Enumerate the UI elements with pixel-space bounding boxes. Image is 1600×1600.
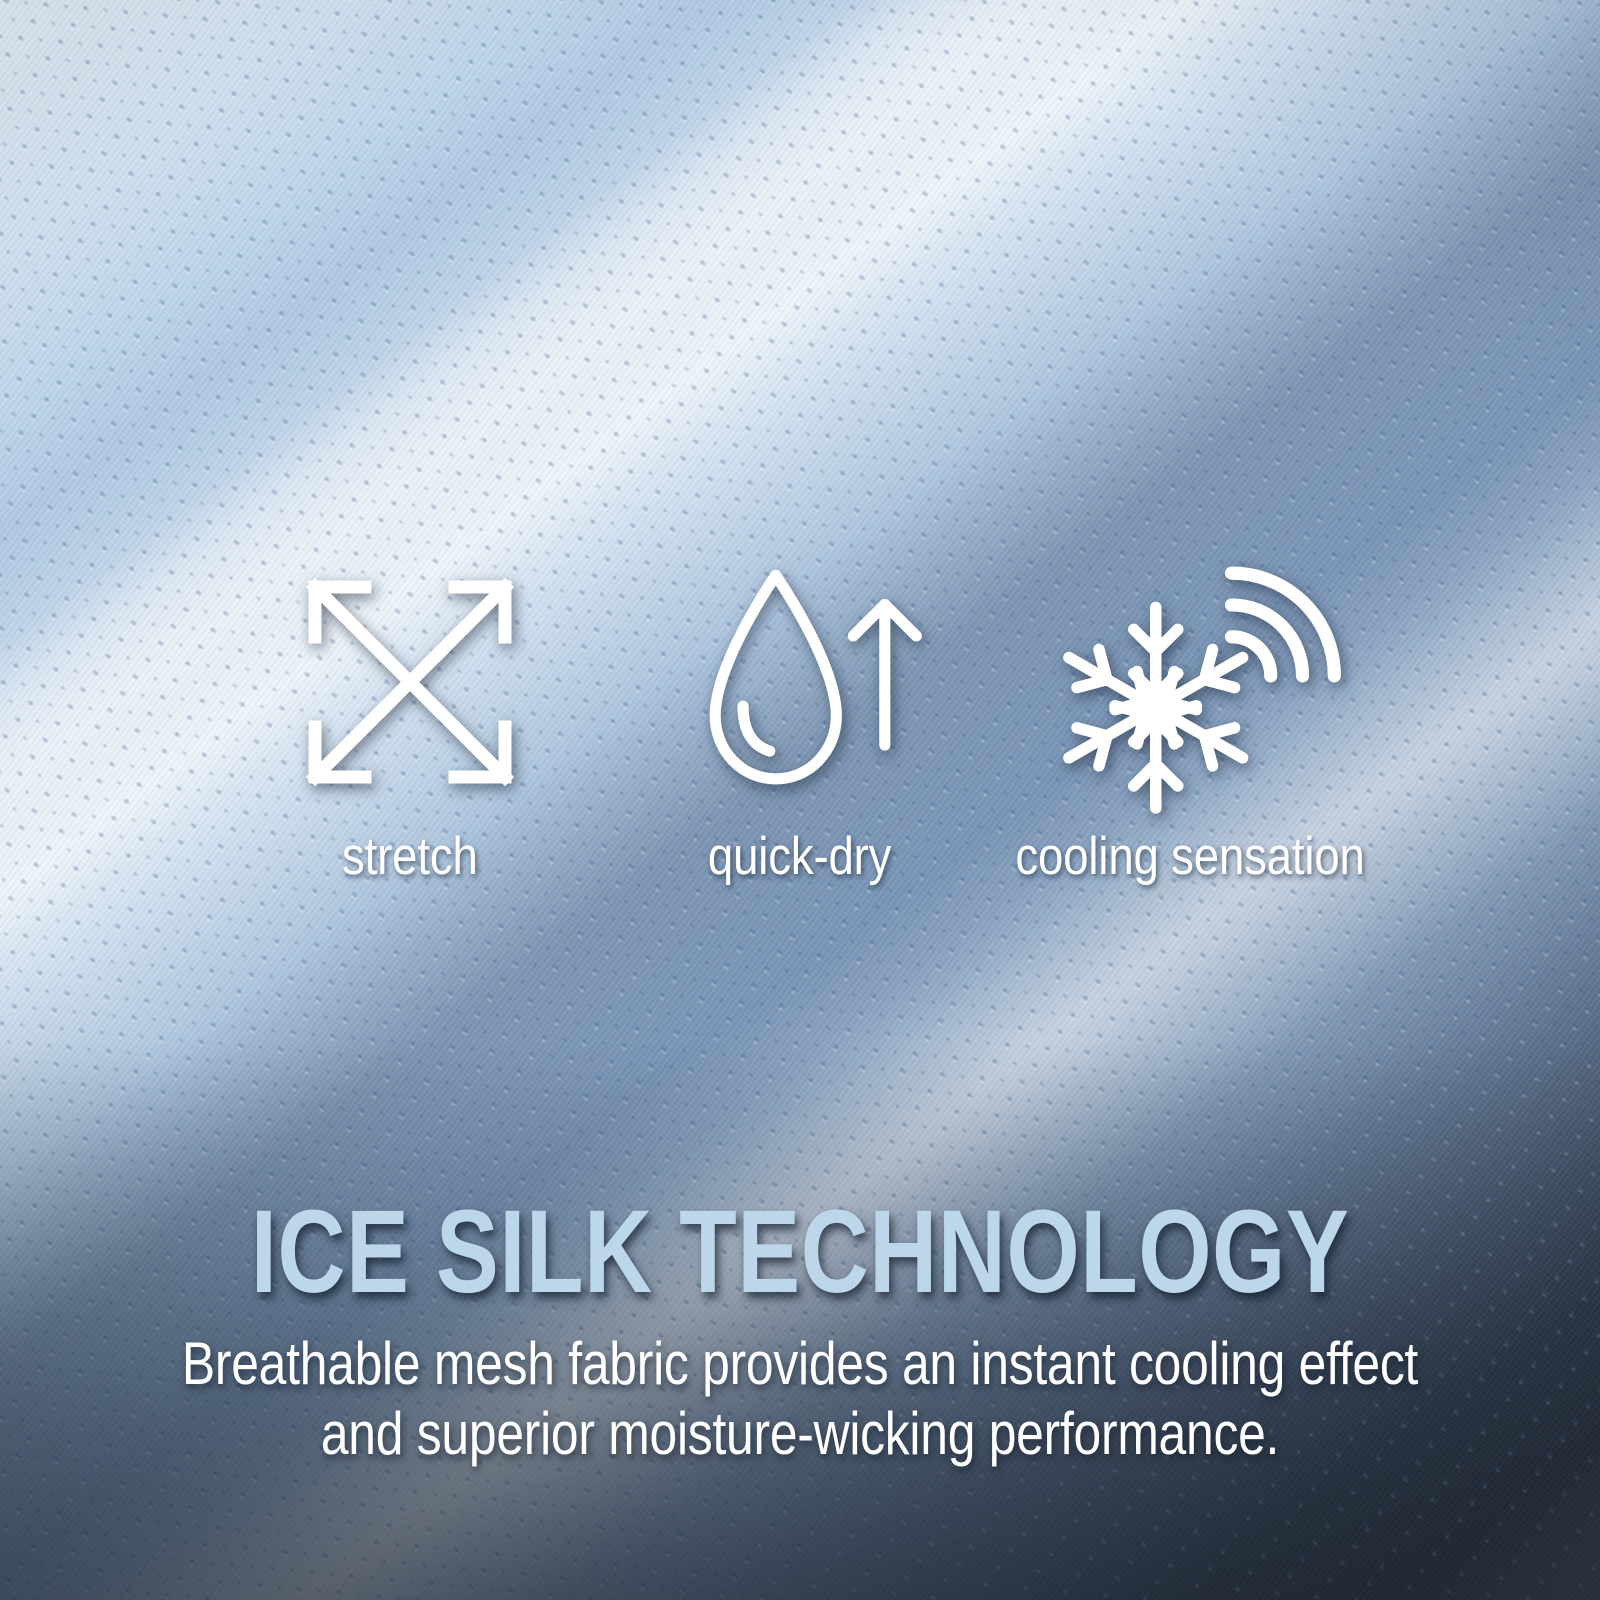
water-droplet-up-arrow-icon xyxy=(682,548,918,816)
product-feature-infographic: stretch quick-dry xyxy=(0,0,1600,1600)
body-copy-line-2: and superior moisture-wicking performanc… xyxy=(136,1399,1464,1469)
infographic-content: stretch quick-dry xyxy=(0,0,1600,1600)
feature-stretch: stretch xyxy=(215,548,605,883)
feature-cooling-sensation: cooling sensation xyxy=(995,548,1385,883)
feature-label-quick-dry: quick-dry xyxy=(708,830,891,883)
feature-quick-dry: quick-dry xyxy=(605,548,995,883)
body-copy: Breathable mesh fabric provides an insta… xyxy=(136,1329,1464,1468)
body-copy-line-1: Breathable mesh fabric provides an insta… xyxy=(136,1329,1464,1399)
feature-label-cooling-sensation: cooling sensation xyxy=(1015,830,1364,883)
feature-row: stretch quick-dry xyxy=(0,548,1600,883)
copy-block: ICE SILK TECHNOLOGY Breathable mesh fabr… xyxy=(0,1196,1600,1468)
headline: ICE SILK TECHNOLOGY xyxy=(160,1196,1440,1309)
feature-label-stretch: stretch xyxy=(342,830,478,883)
snowflake-waves-icon xyxy=(1053,548,1327,816)
four-way-arrows-icon xyxy=(285,548,535,816)
